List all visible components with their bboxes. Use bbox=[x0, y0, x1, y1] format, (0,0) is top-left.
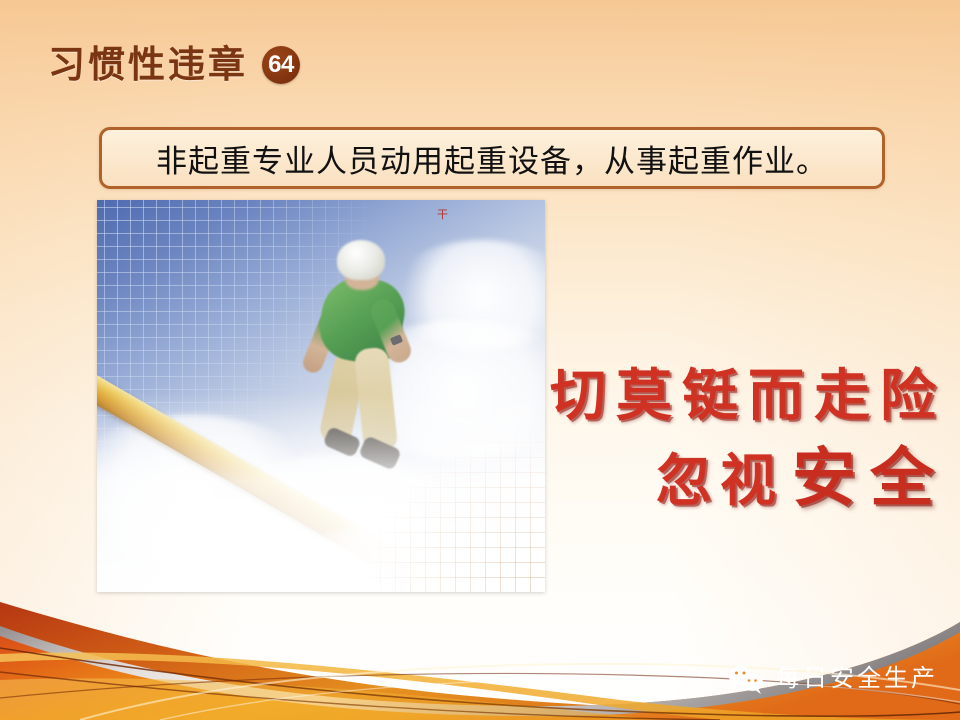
slogan-block: 切莫铤而走险 忽视 安全 bbox=[498, 368, 948, 510]
photo-mark-icon: 干 bbox=[437, 210, 444, 220]
footer-brand: 每日安全生产 bbox=[727, 664, 938, 694]
badge-number: 64 bbox=[268, 53, 294, 77]
slogan-line-2-prefix: 忽视 bbox=[656, 453, 784, 509]
slogan-line-2-strong: 安全 bbox=[792, 446, 948, 510]
person-hair bbox=[337, 240, 385, 280]
slide-header: 习惯性违章 64 bbox=[48, 46, 300, 84]
slogan-line-1: 切莫铤而走险 bbox=[498, 368, 948, 424]
message-box: 非起重专业人员动用起重设备，从事起重作业。 bbox=[99, 127, 885, 189]
wechat-icon bbox=[727, 664, 765, 694]
page-title: 习惯性违章 bbox=[48, 47, 248, 84]
status-badge: 64 bbox=[262, 46, 300, 84]
message-text: 非起重专业人员动用起重设备，从事起重作业。 bbox=[156, 136, 828, 181]
slide-root: 习惯性违章 64 非起重专业人员动用起重设备，从事起重作业。 bbox=[0, 0, 960, 720]
slogan-line-2: 忽视 安全 bbox=[498, 446, 948, 510]
brand-name: 每日安全生产 bbox=[776, 667, 938, 691]
